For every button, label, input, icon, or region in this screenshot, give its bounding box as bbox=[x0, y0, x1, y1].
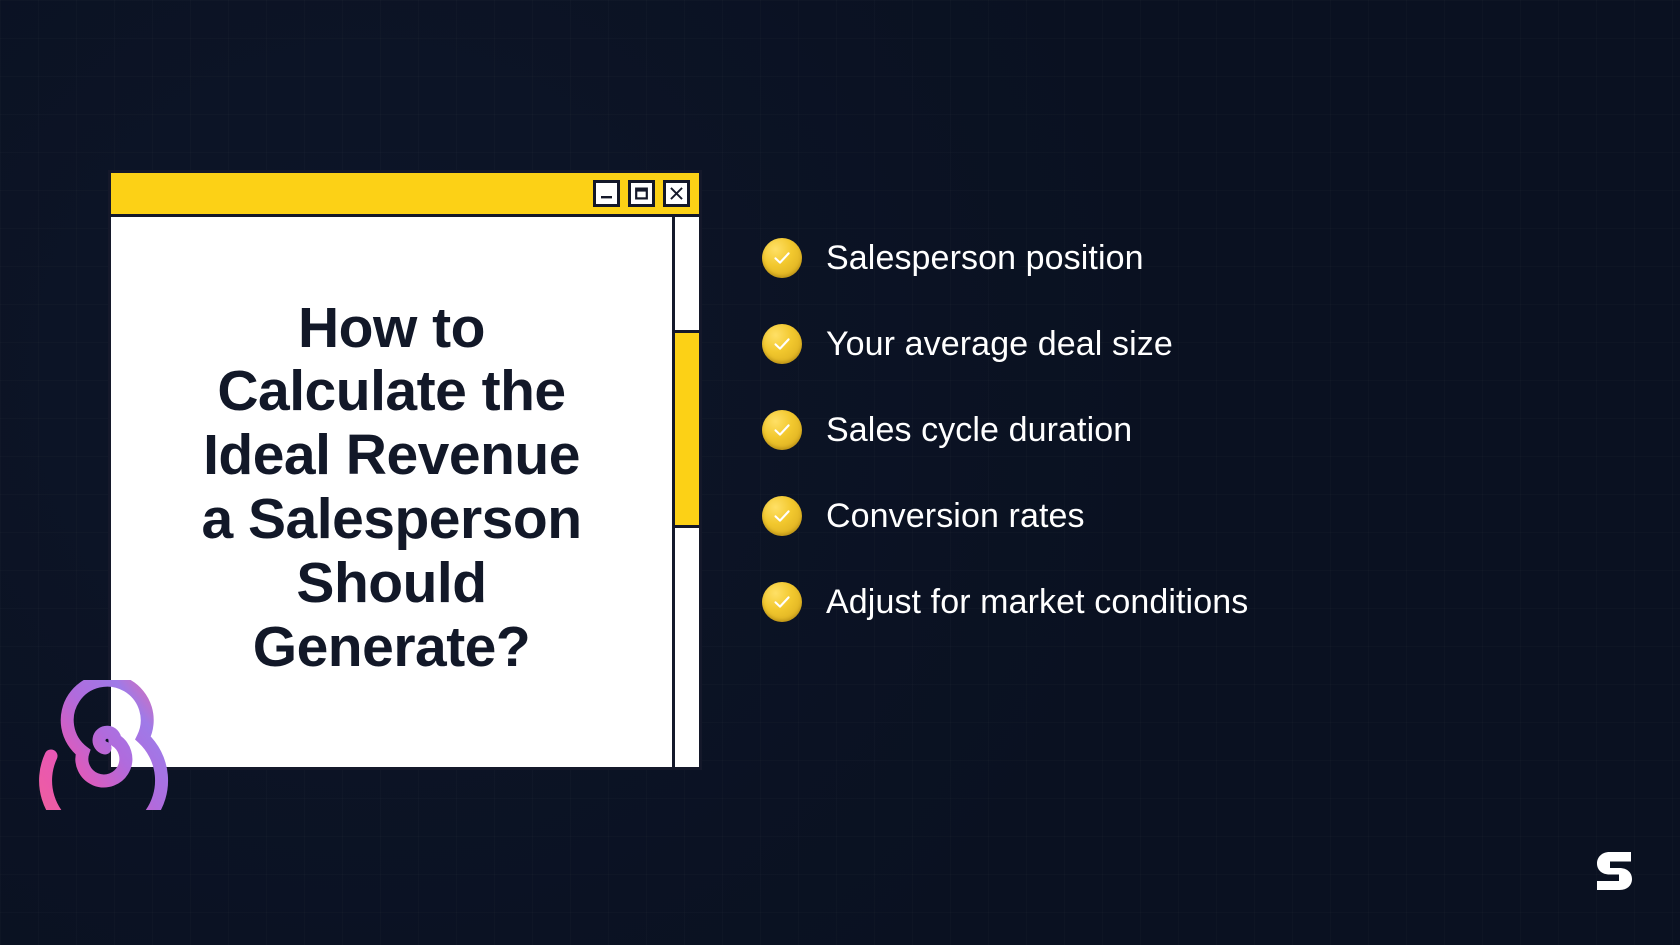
list-item: Salesperson position bbox=[762, 238, 1562, 278]
window-titlebar[interactable] bbox=[108, 170, 702, 214]
check-circle-icon bbox=[762, 582, 802, 622]
window-body: How to Calculate the Ideal Revenue a Sal… bbox=[108, 214, 702, 770]
maximize-icon bbox=[634, 186, 649, 201]
check-circle-icon bbox=[762, 496, 802, 536]
checklist: Salesperson position Your average deal s… bbox=[762, 238, 1562, 622]
list-item: Sales cycle duration bbox=[762, 410, 1562, 450]
maximize-button[interactable] bbox=[628, 180, 655, 207]
vertical-scrollbar[interactable] bbox=[672, 217, 699, 767]
check-circle-icon bbox=[762, 410, 802, 450]
list-item-label: Salesperson position bbox=[826, 239, 1144, 278]
window-title-heading: How to Calculate the Ideal Revenue a Sal… bbox=[201, 297, 581, 680]
close-button[interactable] bbox=[663, 180, 690, 207]
list-item-label: Your average deal size bbox=[826, 325, 1173, 364]
close-icon bbox=[669, 186, 684, 201]
list-item: Your average deal size bbox=[762, 324, 1562, 364]
list-item-label: Sales cycle duration bbox=[826, 411, 1132, 450]
window-content-area: How to Calculate the Ideal Revenue a Sal… bbox=[111, 217, 672, 767]
minimize-button[interactable] bbox=[593, 180, 620, 207]
list-item-label: Adjust for market conditions bbox=[826, 583, 1248, 622]
list-item: Adjust for market conditions bbox=[762, 582, 1562, 622]
minimize-icon bbox=[599, 186, 614, 201]
scrollbar-thumb[interactable] bbox=[675, 330, 699, 528]
list-item: Conversion rates bbox=[762, 496, 1562, 536]
brand-s-logo-icon bbox=[1590, 845, 1638, 897]
check-circle-icon bbox=[762, 238, 802, 278]
list-item-label: Conversion rates bbox=[826, 497, 1085, 536]
check-circle-icon bbox=[762, 324, 802, 364]
retro-window: How to Calculate the Ideal Revenue a Sal… bbox=[108, 170, 702, 770]
